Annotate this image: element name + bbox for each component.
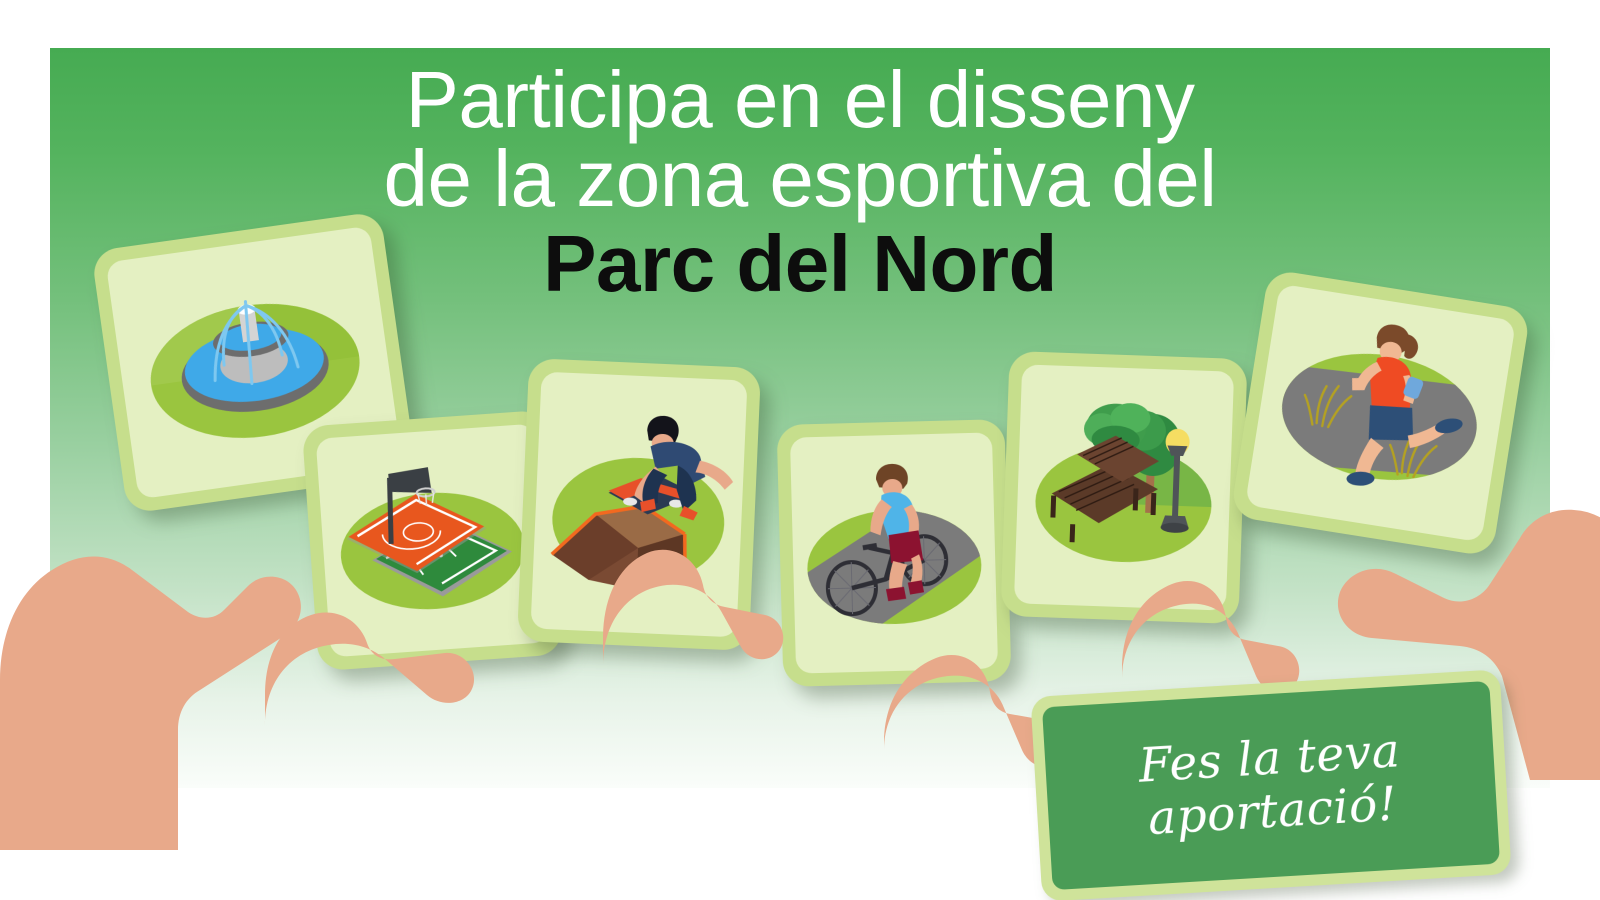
poster-canvas: Participa en el disseny de la zona espor…	[0, 0, 1600, 900]
footer: Ajuntament de Sabadell Hi col·labora:	[0, 790, 1600, 860]
call-to-action-box[interactable]: Fes la teva aportació!	[1030, 669, 1511, 900]
hand-pointing-skate	[545, 505, 805, 805]
